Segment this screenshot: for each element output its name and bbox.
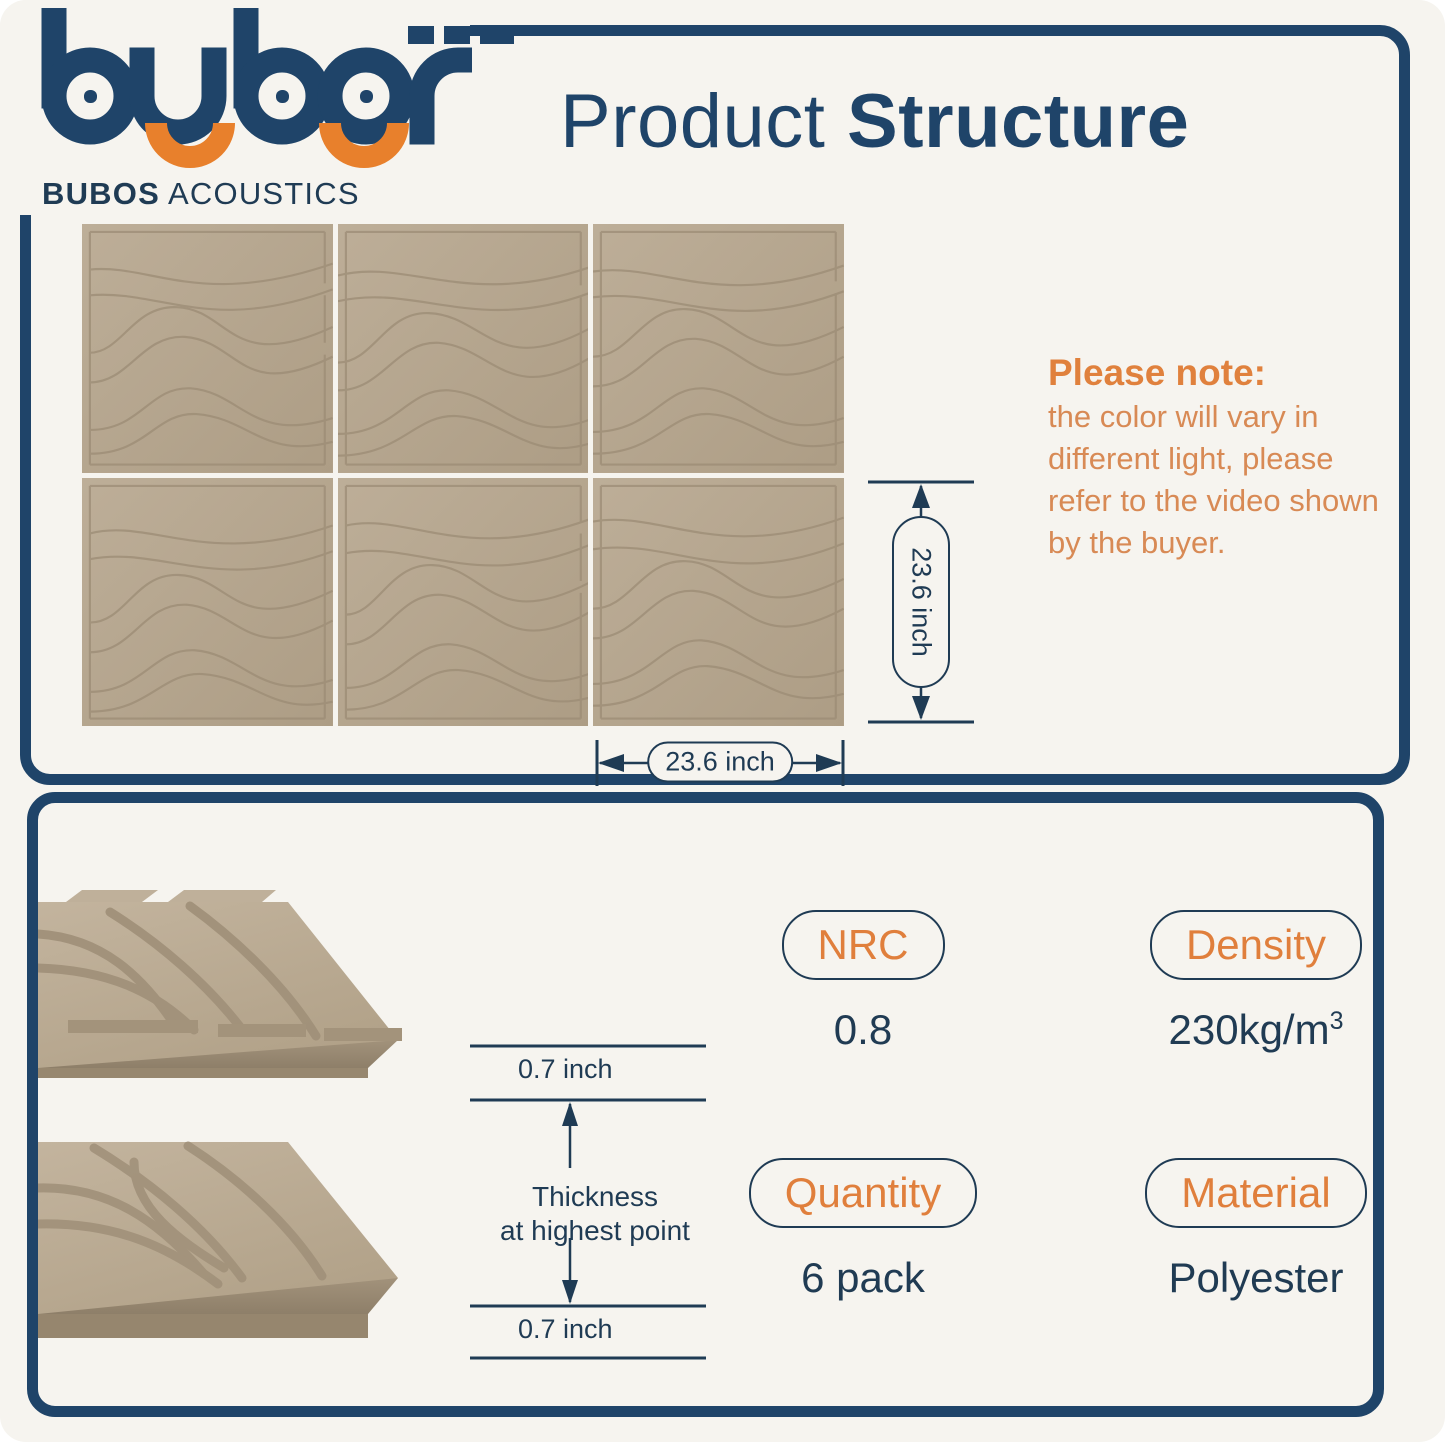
- please-note-block: Please note: the color will vary in diff…: [1048, 352, 1398, 565]
- panel-3d-bottom: [38, 1128, 538, 1368]
- page-title-thin: Product: [560, 79, 847, 164]
- height-dimension-pill: 23.6 inch: [892, 516, 950, 688]
- thickness-caption-line2: at highest point: [470, 1214, 720, 1248]
- panel-tile: [593, 478, 844, 727]
- brand-subtitle-bold: BUBOS: [42, 176, 160, 211]
- panel-tile: [338, 478, 589, 727]
- spec-value-density-text: 230kg/m: [1169, 1006, 1330, 1053]
- thickness-annotation: 0.7 inch 0.7 inch Thickness at highest p…: [470, 1040, 720, 1370]
- spec-card-quantity: Quantity 6 pack: [733, 1158, 993, 1302]
- infographic-canvas: BUBOS ACOUSTICS Product Structure: [0, 0, 1445, 1442]
- spec-card-material: Material Polyester: [1126, 1158, 1386, 1302]
- thickness-bottom-label: 0.7 inch: [518, 1314, 613, 1345]
- spec-value-quantity-text: 6 pack: [801, 1254, 925, 1301]
- panel-grid: [82, 224, 844, 726]
- spec-value-density: 230kg/m3: [1126, 1006, 1386, 1054]
- spec-label-density: Density: [1150, 910, 1362, 980]
- please-note-title: Please note:: [1048, 352, 1398, 394]
- thickness-top-label: 0.7 inch: [518, 1054, 613, 1085]
- please-note-body: the color will vary in different light, …: [1048, 396, 1398, 565]
- spec-card-density: Density 230kg/m3: [1126, 910, 1386, 1054]
- brand-subtitle-light: ACOUSTICS: [160, 176, 360, 211]
- panel-height-dimension: 23.6 inch: [862, 478, 980, 726]
- panel-tile: [593, 224, 844, 473]
- panel-width-dimension: 23.6 inch: [594, 734, 846, 790]
- panel-tile: [82, 478, 333, 727]
- spec-label-quantity: Quantity: [749, 1158, 977, 1228]
- thickness-caption: Thickness at highest point: [470, 1180, 720, 1248]
- spec-value-material: Polyester: [1126, 1254, 1386, 1302]
- page-title: Product Structure: [560, 78, 1189, 165]
- spec-value-density-sup: 3: [1330, 1007, 1344, 1035]
- width-dimension-label: 23.6 inch: [647, 742, 793, 783]
- panel-tile: [338, 224, 589, 473]
- spec-value-quantity: 6 pack: [733, 1254, 993, 1302]
- logo-dash-marks-icon: [400, 18, 520, 58]
- spec-label-nrc: NRC: [782, 910, 945, 980]
- panel-tile: [82, 224, 333, 473]
- spec-value-material-text: Polyester: [1168, 1254, 1343, 1301]
- brand-subtitle: BUBOS ACOUSTICS: [42, 176, 360, 212]
- spec-value-nrc-text: 0.8: [834, 1006, 892, 1053]
- spec-value-nrc: 0.8: [733, 1006, 993, 1054]
- panel-3d-top: [38, 872, 538, 1112]
- thickness-caption-line1: Thickness: [470, 1180, 720, 1214]
- height-dimension-label: 23.6 inch: [906, 547, 937, 657]
- spec-label-material: Material: [1145, 1158, 1366, 1228]
- spec-card-nrc: NRC 0.8: [733, 910, 993, 1054]
- page-title-bold: Structure: [847, 79, 1189, 164]
